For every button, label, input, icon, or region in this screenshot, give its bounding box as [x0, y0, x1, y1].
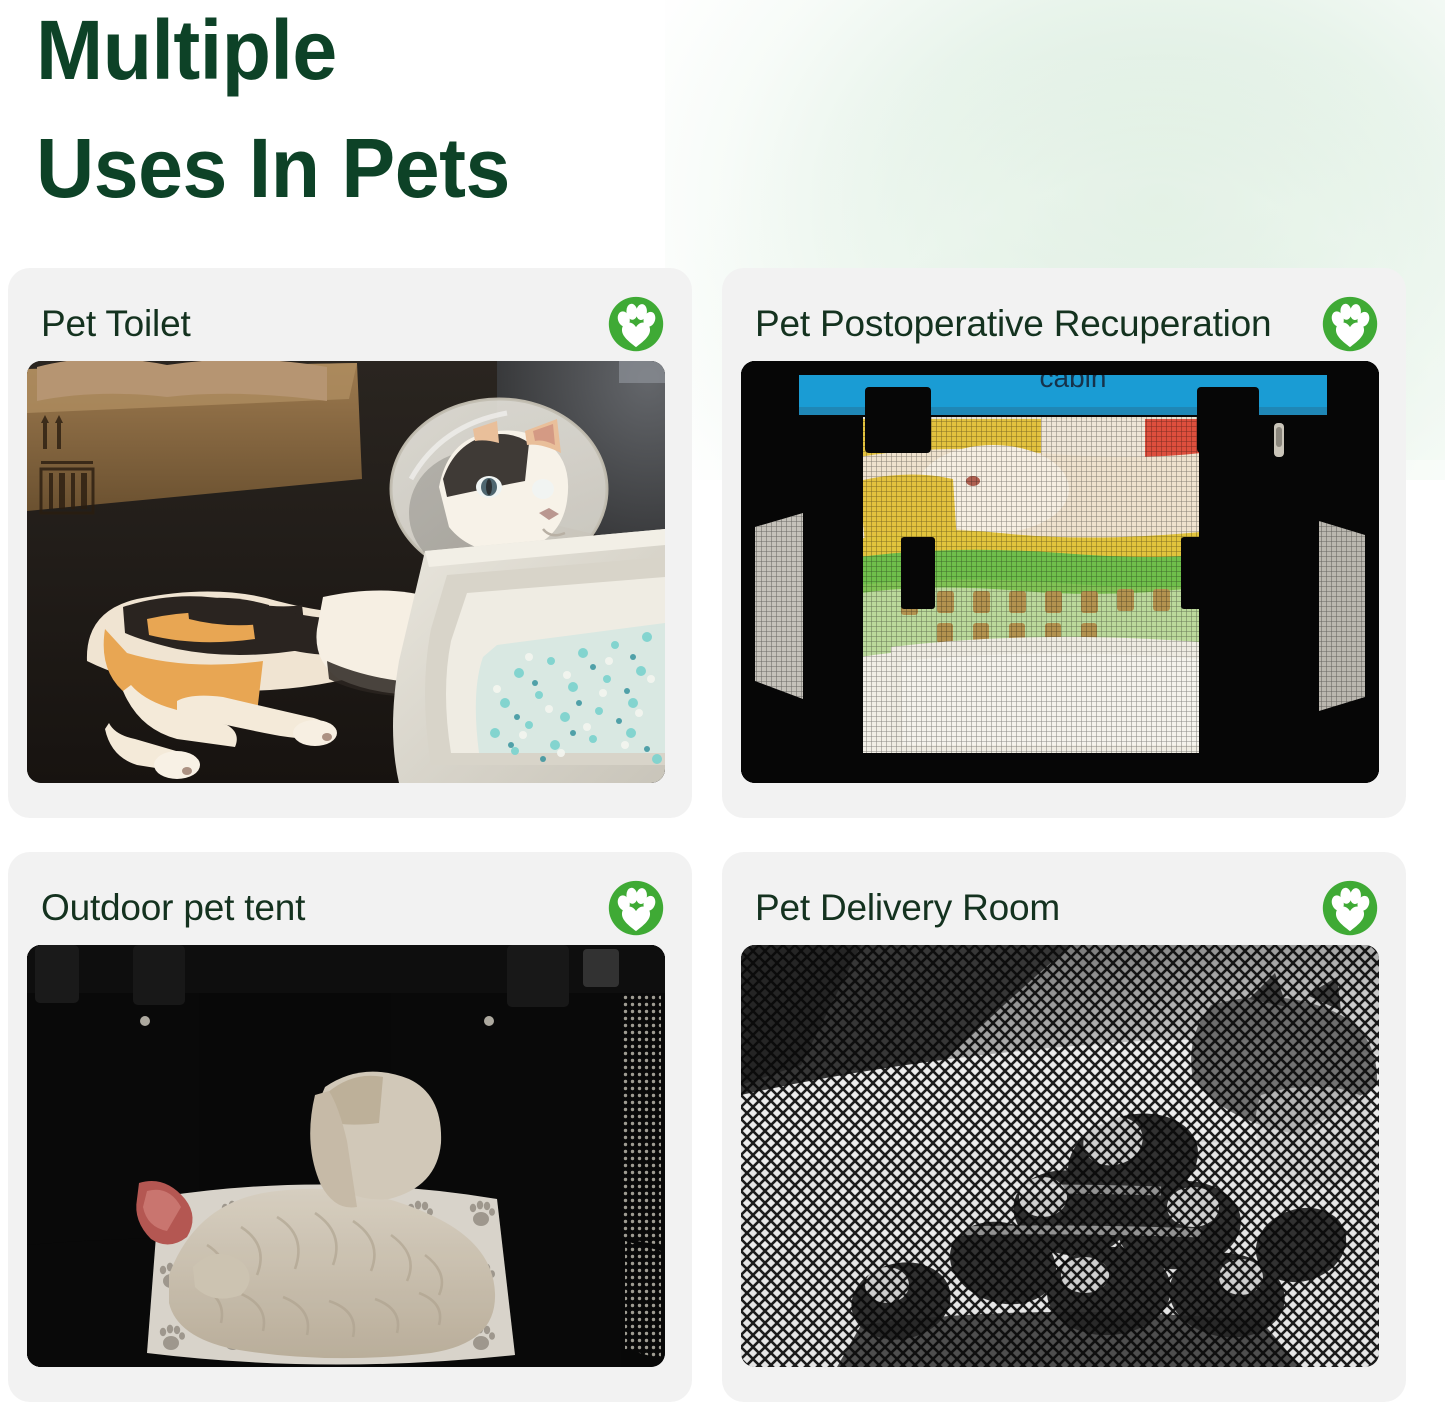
- card-photo-pet-toilet: [27, 361, 665, 783]
- card-header: Pet Toilet: [27, 287, 673, 361]
- card-header: Outdoor pet tent: [27, 871, 673, 945]
- card-header: Pet Postoperative Recuperation: [741, 287, 1387, 361]
- card-title: Outdoor pet tent: [41, 887, 305, 929]
- paw-icon: [1321, 879, 1379, 937]
- use-case-card-outdoor-pet-tent[interactable]: Outdoor pet tent: [8, 852, 692, 1402]
- page-root: Multiple Uses In Pets Pet Toilet: [0, 0, 1445, 1412]
- page-title-line-2: Uses In Pets: [36, 110, 727, 228]
- use-case-card-pet-delivery-room[interactable]: Pet Delivery Room: [722, 852, 1406, 1402]
- paw-icon: [607, 295, 665, 353]
- card-photo-postoperative: cabin: [741, 361, 1379, 783]
- use-case-card-pet-postoperative-recuperation[interactable]: Pet Postoperative Recuperation: [722, 268, 1406, 818]
- card-photo-outdoor-pet-tent: [27, 945, 665, 1367]
- paw-icon: [1321, 295, 1379, 353]
- card-title: Pet Toilet: [41, 303, 191, 345]
- card-title: Pet Postoperative Recuperation: [755, 303, 1271, 345]
- use-case-card-pet-toilet[interactable]: Pet Toilet: [8, 268, 692, 818]
- paw-icon: [607, 879, 665, 937]
- card-title: Pet Delivery Room: [755, 887, 1060, 929]
- use-case-grid: Pet Toilet: [8, 268, 1438, 1402]
- page-title-line-1: Multiple: [36, 0, 727, 110]
- card-header: Pet Delivery Room: [741, 871, 1387, 945]
- page-title: Multiple Uses In Pets: [36, 0, 756, 227]
- card-photo-pet-delivery-room: [741, 945, 1379, 1367]
